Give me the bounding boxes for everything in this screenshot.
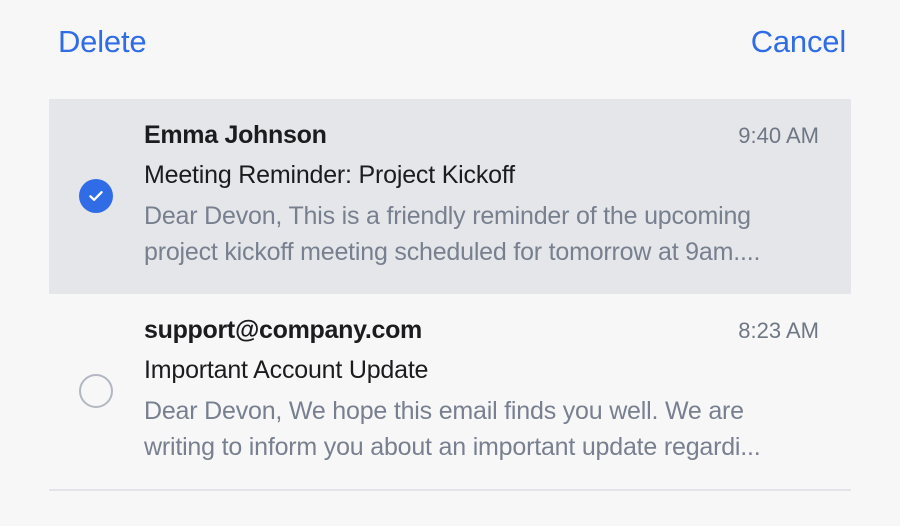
circle-outline-icon[interactable]: [79, 374, 113, 408]
email-list-item[interactable]: Emma Johnson 9:40 AM Meeting Reminder: P…: [49, 99, 851, 294]
email-content: support@company.com 8:23 AM Important Ac…: [144, 316, 851, 465]
email-header-row: support@company.com 8:23 AM: [144, 316, 819, 345]
email-preview: Dear Devon, This is a friendly reminder …: [144, 199, 819, 270]
email-list: Emma Johnson 9:40 AM Meeting Reminder: P…: [0, 99, 900, 491]
cancel-button[interactable]: Cancel: [751, 26, 846, 57]
email-sender: Emma Johnson: [144, 121, 327, 150]
email-sender: support@company.com: [144, 316, 422, 345]
email-list-item[interactable]: support@company.com 8:23 AM Important Ac…: [49, 294, 851, 489]
email-subject: Meeting Reminder: Project Kickoff: [144, 161, 819, 190]
delete-button[interactable]: Delete: [58, 26, 146, 57]
email-preview: Dear Devon, We hope this email finds you…: [144, 394, 819, 465]
email-timestamp: 9:40 AM: [738, 123, 819, 149]
email-content: Emma Johnson 9:40 AM Meeting Reminder: P…: [144, 121, 851, 270]
email-subject: Important Account Update: [144, 356, 819, 385]
selection-toolbar: Delete Cancel: [0, 0, 900, 82]
email-header-row: Emma Johnson 9:40 AM: [144, 121, 819, 150]
email-timestamp: 8:23 AM: [738, 318, 819, 344]
check-circle-filled-icon[interactable]: [79, 179, 113, 213]
list-divider: [49, 489, 851, 491]
